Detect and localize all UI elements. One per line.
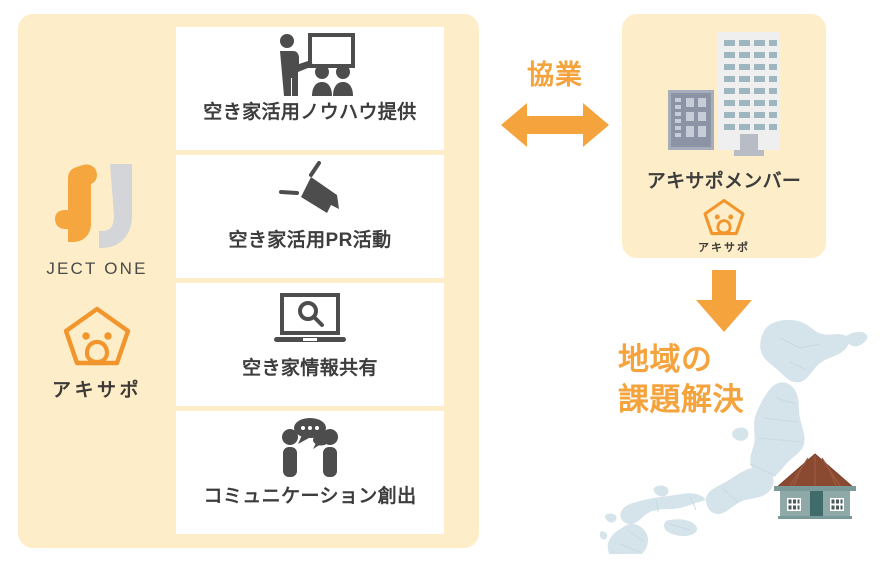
card-label: 空き家活用ノウハウ提供 (203, 103, 416, 122)
akisapo-wordmark-left: アキサポ (52, 375, 142, 402)
right-panel: アキサポメンバー アキサポ (622, 14, 826, 258)
jectone-wordmark: JECT ONE (46, 259, 147, 279)
laptop-search-icon (272, 283, 348, 357)
office-buildings-icon (662, 28, 790, 160)
house-illustration-icon (772, 448, 858, 520)
card-label: 空き家活用PR活動 (229, 231, 392, 250)
jectone-brand: JECT ONE (46, 160, 147, 279)
outcome-text: 地域の 課題解決 (618, 340, 788, 419)
akisapo-house-face-icon (62, 305, 132, 367)
akisapo-house-face-icon (702, 198, 746, 236)
akisapo-brand-left: アキサポ (52, 305, 142, 402)
people-conversation-icon (272, 411, 348, 485)
akisapo-brand-right: アキサポ (622, 198, 826, 255)
card-item[interactable]: 空き家活用ノウハウ提供 (176, 27, 444, 150)
akisapo-wordmark-right: アキサポ (698, 239, 750, 255)
diagram-canvas: JECT ONE アキサポ 空き家活用ノウハウ提供 (0, 0, 895, 562)
outcome-line-2: 課題解決 (618, 380, 788, 420)
presentation-training-icon (264, 27, 356, 101)
member-label: アキサポメンバー (622, 166, 826, 193)
outcome-line-1: 地域の (618, 340, 788, 380)
card-label: 空き家情報共有 (242, 359, 378, 378)
card-item[interactable]: 空き家情報共有 (176, 283, 444, 406)
card-label: コミュニケーション創出 (203, 487, 416, 506)
brand-column: JECT ONE アキサポ (18, 14, 176, 548)
double-headed-horizontal-arrow-icon (501, 101, 609, 149)
megaphone-pr-icon (271, 155, 349, 229)
collaboration-label: 協業 (527, 62, 583, 89)
collaboration-group: 協業 (494, 62, 616, 162)
card-item[interactable]: 空き家活用PR活動 (176, 155, 444, 278)
card-item[interactable]: コミュニケーション創出 (176, 411, 444, 534)
jectone-logo-icon (55, 160, 139, 252)
